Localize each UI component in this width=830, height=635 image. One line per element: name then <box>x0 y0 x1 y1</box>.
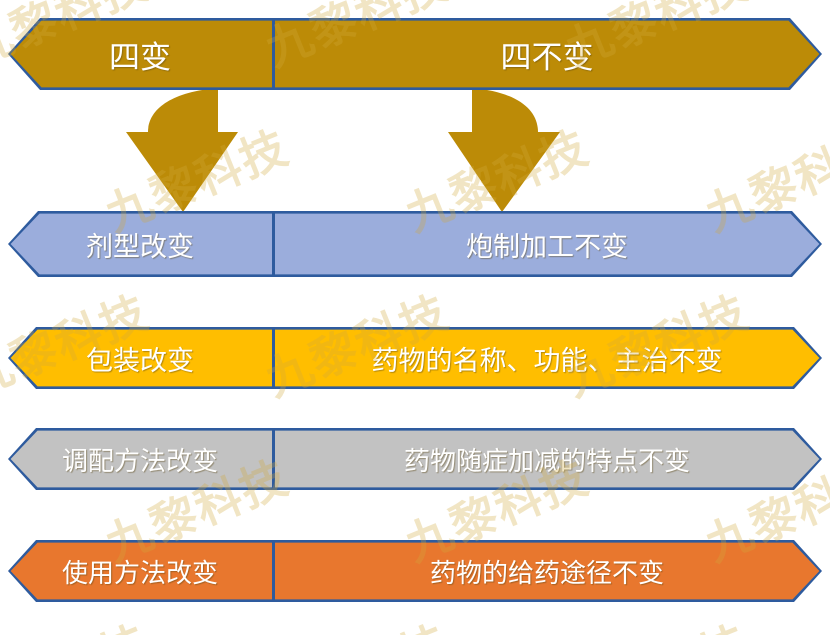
row-administration-left-segment: 使用方法改变 <box>8 540 272 602</box>
row-administration-left-label: 使用方法改变 <box>62 553 218 590</box>
row-dispensing-right-segment: 药物随症加减的特点不变 <box>272 428 822 490</box>
row-dosage-form-divider <box>272 211 275 277</box>
row-packaging-divider <box>272 327 275 389</box>
row-administration-divider <box>272 540 275 602</box>
row-dispensing-left-label: 调配方法改变 <box>62 441 218 478</box>
arrow-left-shape <box>126 88 238 212</box>
row-administration-right-label: 药物的给药途径不变 <box>430 553 664 590</box>
title-right-segment: 四不变 <box>272 18 822 90</box>
watermark-text: 九黎科技 <box>555 606 758 635</box>
row-dosage-form-right-label: 炮制加工不变 <box>466 225 628 264</box>
row-packaging-right-label: 药物的名称、功能、主治不变 <box>372 339 723 378</box>
watermark-text: 九黎科技 <box>0 606 157 635</box>
row-dispensing-left-segment: 调配方法改变 <box>8 428 272 490</box>
diagram-canvas: 四变 四不变 剂型改变 炮制加工不变 包装改变 药物的名称 <box>0 0 830 635</box>
row-administration: 使用方法改变 药物的给药途径不变 <box>8 540 822 602</box>
row-dispensing-divider <box>272 428 275 490</box>
row-packaging-left-label: 包装改变 <box>86 339 194 378</box>
row-packaging-right-segment: 药物的名称、功能、主治不变 <box>272 327 822 389</box>
title-left-segment: 四变 <box>8 18 272 90</box>
watermark-text: 九黎科技 <box>255 606 458 635</box>
row-packaging-left-segment: 包装改变 <box>8 327 272 389</box>
row-dosage-form-left-segment: 剂型改变 <box>8 211 272 277</box>
row-administration-right-segment: 药物的给药途径不变 <box>272 540 822 602</box>
row-dispensing: 调配方法改变 药物随症加减的特点不变 <box>8 428 822 490</box>
arrow-left <box>108 88 238 212</box>
row-dosage-form: 剂型改变 炮制加工不变 <box>8 211 822 277</box>
title-banner-row: 四变 四不变 <box>8 18 822 90</box>
row-dispensing-right-label: 药物随症加减的特点不变 <box>404 441 690 478</box>
arrow-right <box>440 88 570 212</box>
title-right-label: 四不变 <box>501 32 594 77</box>
row-dosage-form-right-segment: 炮制加工不变 <box>272 211 822 277</box>
title-left-label: 四变 <box>109 32 171 77</box>
row-dosage-form-left-label: 剂型改变 <box>86 225 194 264</box>
arrow-right-shape <box>448 88 560 212</box>
row-packaging: 包装改变 药物的名称、功能、主治不变 <box>8 327 822 389</box>
title-banner-divider <box>272 18 275 90</box>
